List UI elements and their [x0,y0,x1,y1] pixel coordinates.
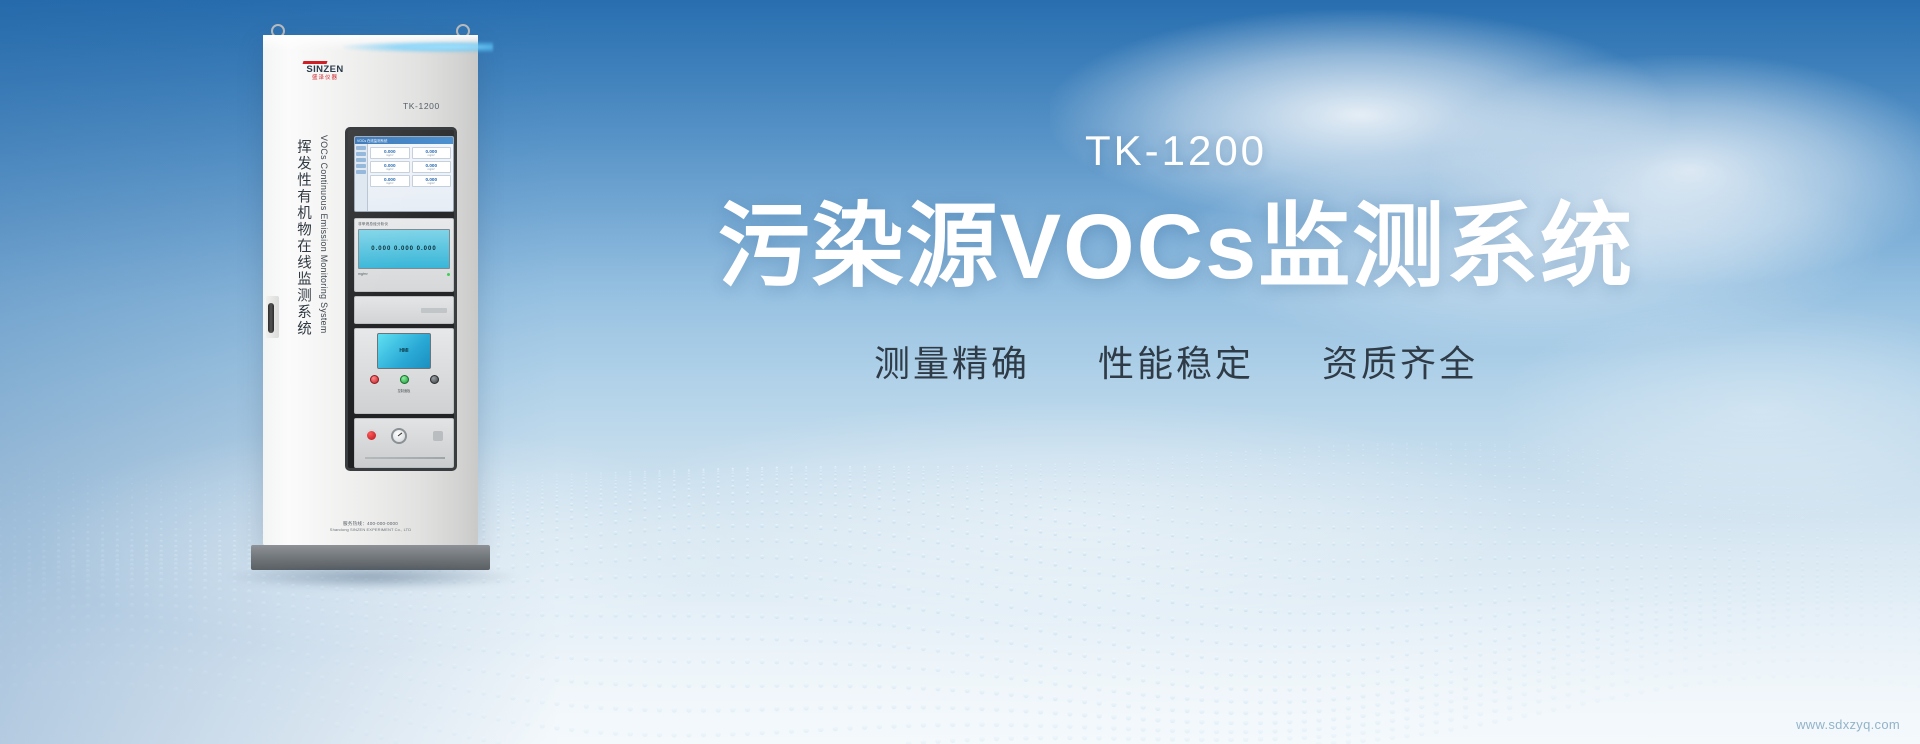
cabinet-title-en: VOCs Continuous Emission Monitoring Syst… [319,135,329,334]
hmi-reading-cell: 0.000 mg/m³ [370,175,410,187]
controller-buttons [359,375,449,384]
hmi-reading-unit: mg/m³ [413,182,451,185]
hmi-reading-unit: mg/m³ [371,154,409,157]
hmi-sidebar[interactable] [355,144,368,212]
hmi-menu-icon[interactable] [356,170,366,174]
status-led-icon [447,273,450,276]
door-handle-icon[interactable] [268,303,274,333]
gas-panel-module [354,418,454,468]
feature-item: 测量精确 [874,335,1030,387]
hmi-reading-unit: mg/m³ [413,154,451,157]
controller-module: HMI 控制面板 [354,328,454,414]
brand-logo: SINZEN 盛泽仪器 [294,61,356,81]
hmi-reading-cell: 0.000 mg/m³ [412,147,452,159]
tubing-icon [365,457,445,459]
cabinet-shadow [223,564,523,590]
vent-slot-icon [421,308,447,313]
analyzer-footer: mg/m³ [358,272,450,276]
cabinet-title-cn: 挥发性有机物在线监测系统 [292,139,312,337]
hmi-menu-icon[interactable] [356,164,366,168]
brand-name-cn: 盛泽仪器 [294,76,356,82]
hmi-touch-panel[interactable]: VOCs 在线监测系统 0.000 [354,136,454,212]
hmi-menu-icon[interactable] [356,152,366,156]
analyzer-display: 0.000 0.000 0.000 [358,229,450,269]
banner-copy: TK-1200 污染源VOCs监测系统 测量精确 性能稳定 资质齐全 [556,130,1796,387]
hmi-menu-icon[interactable] [356,146,366,150]
cabinet-model-badge: TK-1200 [403,101,440,111]
banner-headline: 污染源VOCs监测系统 [556,198,1796,297]
feature-item: 性能稳定 [1098,335,1254,387]
model-label: TK-1200 [556,130,1796,172]
power-button-icon[interactable] [370,375,379,384]
hmi-menu-icon[interactable] [356,158,366,162]
hmi-reading-unit: mg/m³ [413,168,451,171]
hmi-reading-unit: mg/m³ [371,168,409,171]
hmi-reading-cell: 0.000 mg/m³ [412,175,452,187]
hmi-reading-unit: mg/m³ [371,182,409,185]
site-watermark: www.sdxzyq.com [1796,717,1900,732]
cabinet-footer: 服务热线：400-000-0000 Shandong SINZEN EXPERI… [263,521,478,533]
run-button-icon[interactable] [400,375,409,384]
hmi-reading-cell: 0.000 mg/m³ [370,161,410,173]
hmi-title-text: VOCs 在线监测系统 [357,138,387,143]
hmi-body: 0.000 mg/m³ 0.000 mg/m³ 0.000 mg/m³ [355,144,453,212]
filler-module [354,296,454,324]
logo-accent-icon [303,61,328,64]
analyzer-unit: mg/m³ [358,272,368,276]
hmi-reading-grid: 0.000 mg/m³ 0.000 mg/m³ 0.000 mg/m³ [368,144,453,212]
reset-button-icon[interactable] [430,375,439,384]
analyzer-title: 非甲烷总烃分析仪 [358,222,450,227]
hmi-titlebar: VOCs 在线监测系统 [355,137,453,144]
feature-list: 测量精确 性能稳定 资质齐全 [556,335,1796,387]
emergency-stop-icon[interactable] [365,429,378,442]
product-cabinet: SINZEN 盛泽仪器 TK-1200 挥发性有机物在线监测系统 VOCs Co… [263,24,478,570]
cabinet-body: SINZEN 盛泽仪器 TK-1200 挥发性有机物在线监测系统 VOCs Co… [263,35,478,545]
controller-display: HMI [377,333,431,369]
feature-item: 资质齐全 [1322,335,1478,387]
pressure-gauge-icon [391,428,407,444]
valve-icon[interactable] [433,431,443,441]
hmi-reading-cell: 0.000 mg/m³ [370,147,410,159]
controller-caption: 控制面板 [359,388,449,393]
product-banner: SINZEN 盛泽仪器 TK-1200 挥发性有机物在线监测系统 VOCs Co… [0,0,1920,744]
light-flare-icon [343,41,493,53]
cabinet-company: Shandong SINZEN EXPERIMENT Co., LTD [263,527,478,533]
instrument-window: VOCs 在线监测系统 0.000 [345,127,457,471]
hmi-reading-cell: 0.000 mg/m³ [412,161,452,173]
analyzer-module: 非甲烷总烃分析仪 0.000 0.000 0.000 mg/m³ [354,218,454,292]
brand-name: SINZEN [294,65,356,75]
